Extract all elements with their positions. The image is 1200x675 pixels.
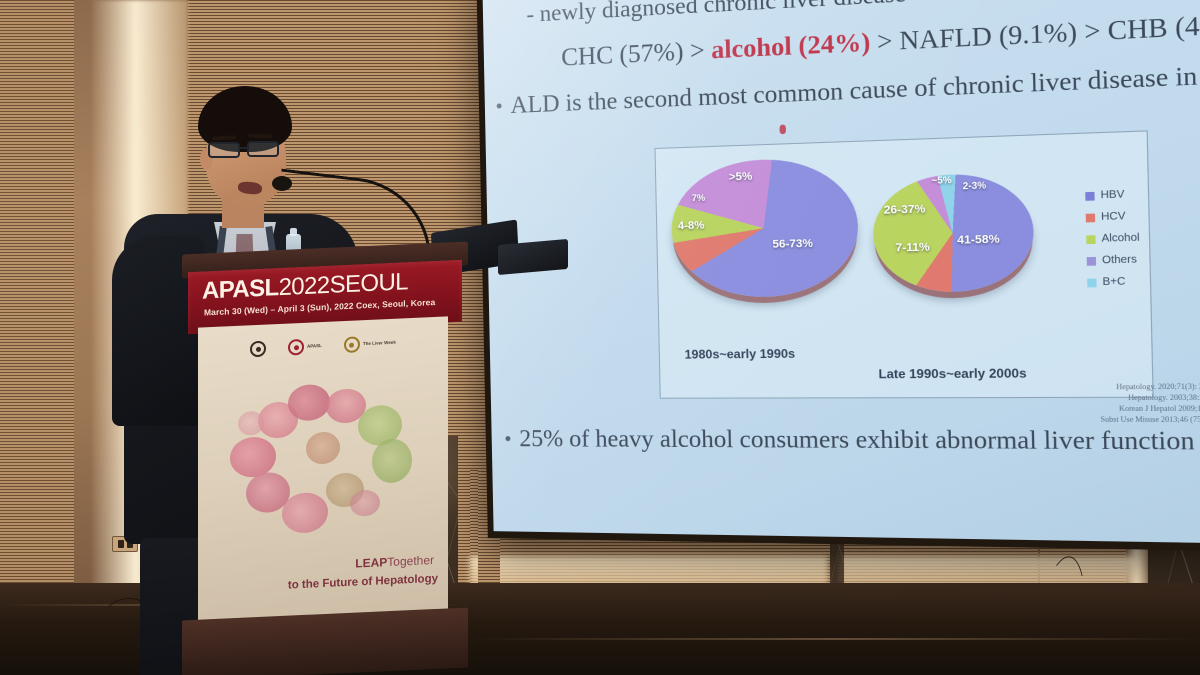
conference-title-year: 2022 xyxy=(279,272,330,301)
tagline-leap: LEAP xyxy=(355,555,387,570)
pie-label-others: ~5% xyxy=(931,175,951,186)
floral-liver-artwork xyxy=(222,369,427,548)
legend-swatch-icon xyxy=(1087,278,1096,287)
host-logo xyxy=(250,341,266,358)
bullet-dot-icon xyxy=(497,104,502,109)
citation-line: Subst Use Misuse 2013;46 (759-1742) xyxy=(1100,415,1200,426)
sponsor-logo-caption: The Liver Week xyxy=(363,340,396,346)
legend-swatch-icon xyxy=(1086,213,1095,222)
lectern-base xyxy=(182,608,468,675)
conference-title-city: SEOUL xyxy=(330,268,408,299)
citation-line: Hepatology. 2003;38:227-242 xyxy=(1100,392,1200,403)
legend-item-hcv: HCV xyxy=(1086,210,1139,223)
legend-item-others: Others xyxy=(1087,254,1140,267)
tagline-together: Together xyxy=(387,553,434,569)
bullet-25-text: 25% of heavy alcohol consumers exhibit a… xyxy=(519,426,1200,456)
slide-bullet-heavy-drinkers: 25% of heavy alcohol consumers exhibit a… xyxy=(505,426,1200,457)
projection-screen: …tion - newly diagnosed chronic liver di… xyxy=(482,0,1200,544)
pie-label-alcohol: 7% xyxy=(692,193,706,204)
presentation-slide: …tion - newly diagnosed chronic liver di… xyxy=(482,0,1200,544)
wall-alcove-right xyxy=(840,556,1140,586)
ranking-highlight-alcohol: alcohol (24%) xyxy=(711,29,871,65)
conference-tagline-line2: to the Future of Hepatology xyxy=(288,573,438,592)
citation-line: Korean J Hepatol 2009;15:9-440 xyxy=(1100,404,1200,415)
conference-tagline-line1: LEAPTogether xyxy=(355,553,434,571)
pie-slices xyxy=(872,172,1035,293)
apasl-logo-icon xyxy=(288,339,304,356)
slide-citations: Hepatology. 2020;71(3): 306-333 Hepatolo… xyxy=(1100,381,1200,426)
legend-swatch-icon xyxy=(1087,256,1096,265)
floor-reflection xyxy=(470,638,1200,640)
speaker-eyeglasses-lens xyxy=(247,141,279,157)
pie-chart-1990s: 41-58% 7-11% 26-37% ~5% 2-3% xyxy=(872,172,1035,293)
legend-item-hbv: HBV xyxy=(1085,188,1138,201)
conference-title-apasl: APASL xyxy=(202,274,279,304)
ranking-prefix: CHC (57%) > xyxy=(561,37,712,72)
pie-caption-1990s: Late 1990s~early 2000s xyxy=(878,366,1026,382)
legend-item-alcohol: Alcohol xyxy=(1086,232,1139,245)
pie-label-hbv: 56-73% xyxy=(772,237,813,250)
legend-swatch-icon xyxy=(1085,191,1094,200)
pie-label-hcv: 4-8% xyxy=(678,219,705,232)
legend-label: HCV xyxy=(1101,211,1126,224)
legend-label: B+C xyxy=(1102,276,1125,288)
pie-label-alcohol: 26-37% xyxy=(884,203,926,217)
citation-line: Hepatology. 2020;71(3): 306-333 xyxy=(1100,381,1200,393)
slide-subheading: - newly diagnosed chronic liver disease xyxy=(526,0,906,28)
legend-label: Others xyxy=(1102,254,1137,267)
legend-label: Alcohol xyxy=(1101,232,1139,245)
legend-label: HBV xyxy=(1100,189,1124,202)
speaker-eyeglasses-lens xyxy=(208,142,240,158)
microphone-head-icon xyxy=(272,176,292,191)
sponsor-logo: The Liver Week xyxy=(344,335,396,353)
apasl-logo-caption: APASL xyxy=(307,344,322,350)
presentation-scene: …tion - newly diagnosed chronic liver di… xyxy=(0,0,1200,675)
confidence-monitor xyxy=(498,239,568,275)
lectern: APASL2022SEOUL March 30 (Wed) – April 3 … xyxy=(182,248,468,675)
chart-container: 56-73% 4-8% 7% >5% 1980s~early 1990s 41-… xyxy=(654,130,1153,398)
pie-caption-1980s: 1980s~early 1990s xyxy=(684,346,795,361)
pie-label-hcv: 7-11% xyxy=(895,241,930,254)
legend-swatch-icon xyxy=(1086,235,1095,244)
wall-panel-far-left xyxy=(0,0,74,606)
sponsor-logo-row: APASL The Liver Week xyxy=(250,335,396,358)
host-logo-icon xyxy=(250,341,266,358)
bullet-dot-icon xyxy=(505,437,510,442)
lectern-front-panel: APASL The Liver Week xyxy=(198,316,448,627)
laser-pointer-dot xyxy=(779,125,786,135)
pie-label-others: >5% xyxy=(729,170,753,183)
pie-chart-1980s: 56-73% 4-8% 7% >5% xyxy=(670,157,859,299)
ranking-suffix: > NAFLD (9.1%) > CHB (4.4%) xyxy=(870,9,1200,57)
pie-label-hbv: 41-58% xyxy=(957,233,1000,247)
pie-label-bc: 2-3% xyxy=(963,180,987,191)
apasl-logo: APASL xyxy=(288,338,322,356)
legend-item-bc: B+C xyxy=(1087,276,1140,289)
chart-legend: HBV HCV Alcohol Others xyxy=(1085,188,1141,298)
speaker-eyeglasses-bridge xyxy=(239,147,248,149)
sponsor-logo-icon xyxy=(344,336,360,353)
